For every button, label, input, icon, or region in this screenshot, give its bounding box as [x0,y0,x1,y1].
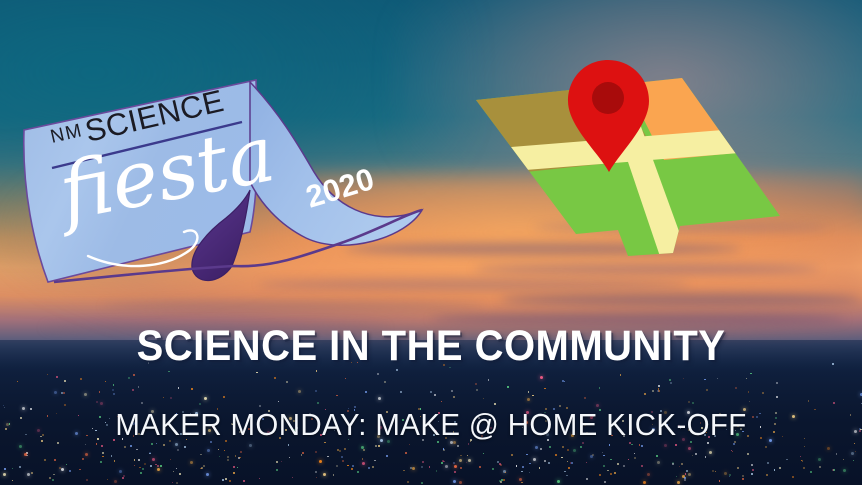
page-title: SCIENCE IN THE COMMUNITY [30,325,832,368]
fiesta-flag-logo: NM SCIENCE fiesta 2020 [14,60,434,290]
promo-graphic: NM SCIENCE fiesta 2020 SCIENCE IN THE CO… [0,0,862,485]
page-subtitle: MAKER MONDAY: MAKE @ HOME KICK-OFF [22,409,841,440]
map-illustration [468,48,808,288]
